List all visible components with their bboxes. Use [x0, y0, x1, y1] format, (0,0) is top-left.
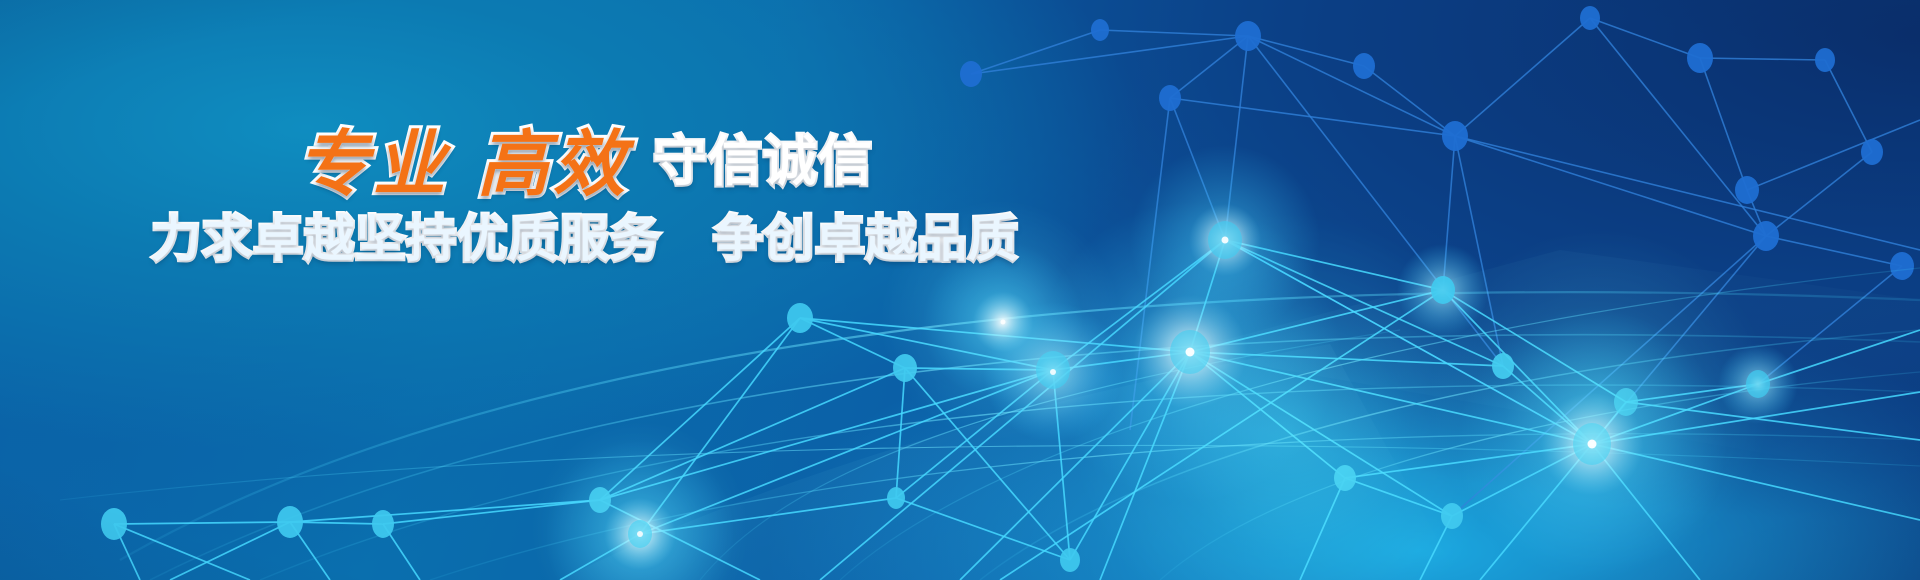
subheadline-segment-b: 争创卓越品质 — [713, 211, 1019, 267]
hero-banner: 专业 高效 守信诚信 力求卓越坚持优质服务 争创卓越品质 — [0, 0, 1920, 580]
banner-headline: 专业 高效 守信诚信 力求卓越坚持优质服务 争创卓越品质 — [0, 128, 1170, 264]
headline-accent-efficient: 高效 — [477, 128, 629, 200]
headline-plain-integrity: 守信诚信 — [653, 135, 873, 189]
subheadline-segment-a: 力求卓越坚持优质服务 — [151, 211, 661, 267]
headline-line-1: 专业 高效 守信诚信 — [0, 128, 1170, 200]
headline-line-2: 力求卓越坚持优质服务 争创卓越品质 — [0, 214, 1170, 264]
background-glow-overlay — [0, 0, 1920, 580]
headline-accent-professional: 专业 — [297, 128, 449, 200]
